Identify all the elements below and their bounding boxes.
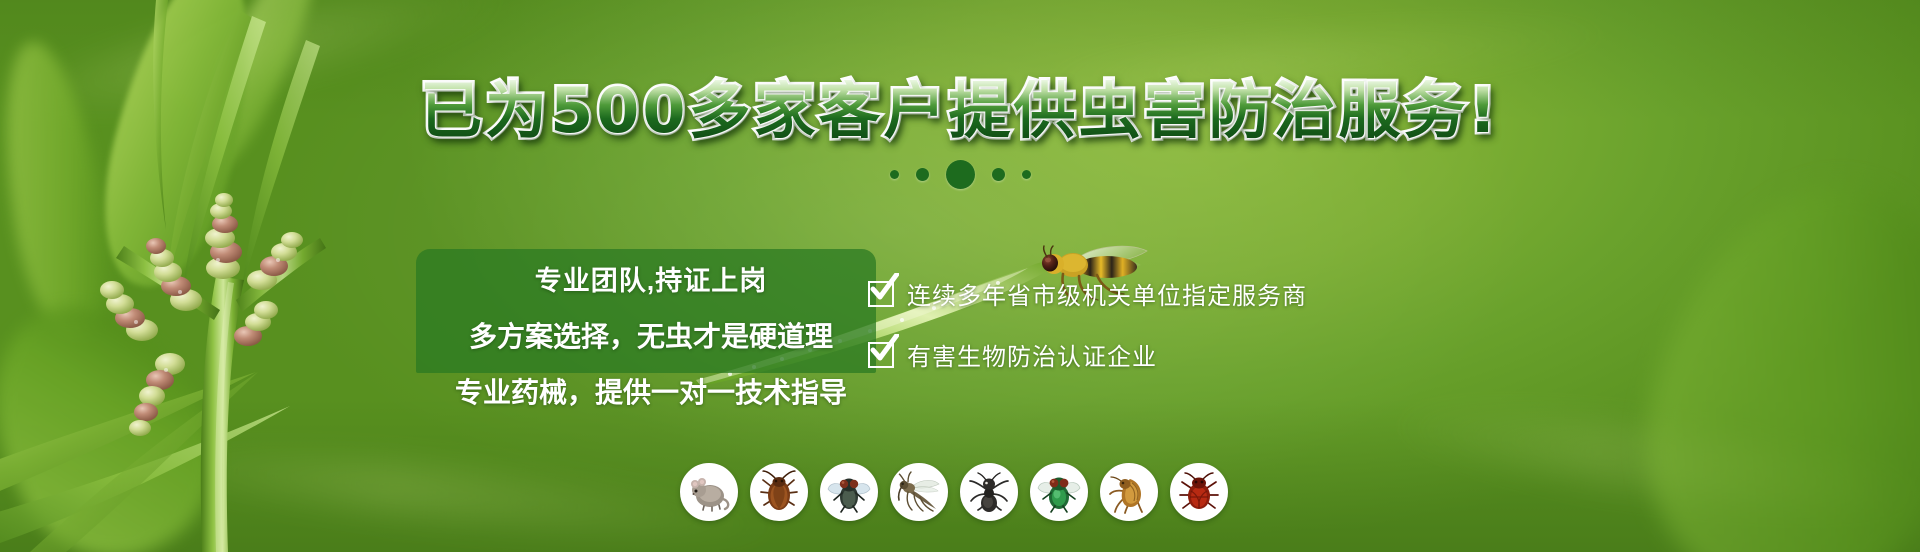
divider-dot-small	[1022, 170, 1031, 179]
dot-divider	[0, 160, 1920, 189]
check-box-icon	[868, 281, 894, 307]
credential-label: 有害生物防治认证企业	[907, 337, 1157, 372]
pest-types-icon-row	[680, 463, 1228, 521]
divider-dot-medium	[992, 168, 1005, 181]
headline-block: 已为500多家客户提供虫害防治服务! 已为500多家客户提供虫害防治服务!	[0, 80, 1920, 142]
list-item: 连续多年省市级机关单位指定服务商	[868, 276, 1307, 311]
feature-line-solutions: 多方案选择，无虫才是硬道理	[416, 298, 886, 355]
rat-icon[interactable]	[680, 463, 738, 521]
page-title: 已为500多家客户提供虫害防治服务!	[420, 80, 1500, 142]
divider-dot-large	[946, 160, 975, 189]
features-panel: 专业团队,持证上岗 多方案选择，无虫才是硬道理 专业药械，提供一对一技术指导	[416, 248, 886, 411]
check-box-icon	[868, 342, 894, 368]
blowfly-icon[interactable]	[1030, 463, 1088, 521]
mosquito-icon[interactable]	[890, 463, 948, 521]
bedbug-icon[interactable]	[1170, 463, 1228, 521]
divider-dot-small	[890, 170, 899, 179]
ant-icon[interactable]	[960, 463, 1018, 521]
flea-icon[interactable]	[1100, 463, 1158, 521]
fly-icon[interactable]	[820, 463, 878, 521]
pest-control-hero-banner: 已为500多家客户提供虫害防治服务! 已为500多家客户提供虫害防治服务! 专业…	[0, 0, 1920, 552]
list-item: 有害生物防治认证企业	[868, 337, 1307, 372]
cockroach-icon[interactable]	[750, 463, 808, 521]
feature-line-equipment: 专业药械，提供一对一技术指导	[416, 355, 886, 411]
credential-label: 连续多年省市级机关单位指定服务商	[907, 276, 1307, 311]
credentials-list: 连续多年省市级机关单位指定服务商 有害生物防治认证企业	[868, 276, 1307, 398]
divider-dot-medium	[916, 168, 929, 181]
feature-line-team: 专业团队,持证上岗	[416, 248, 886, 298]
